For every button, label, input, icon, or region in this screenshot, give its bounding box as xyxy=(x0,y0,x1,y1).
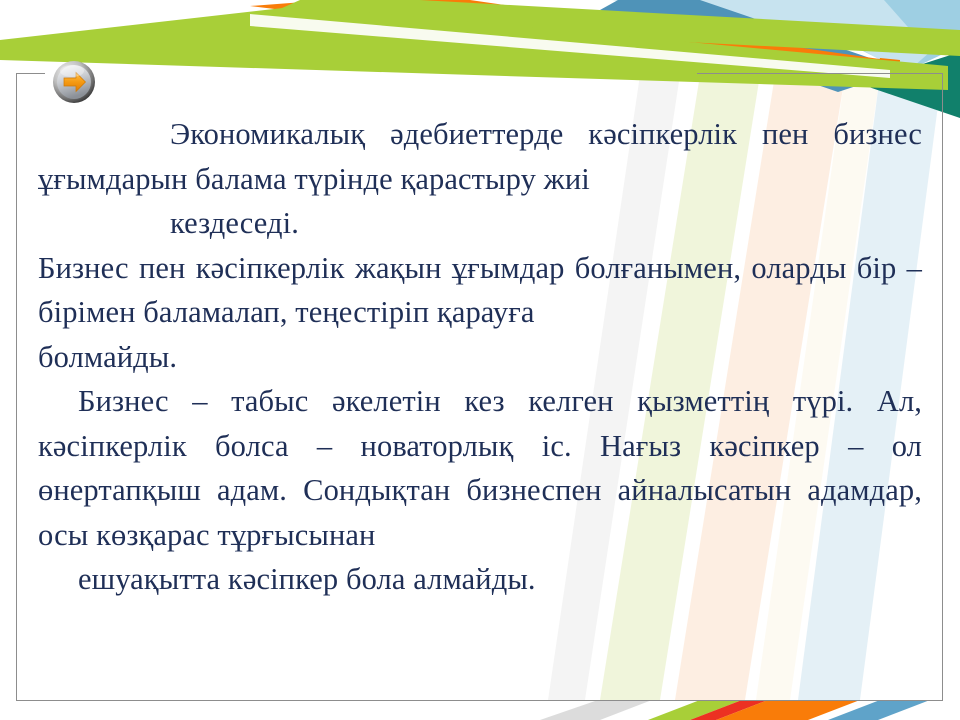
frame-border-left xyxy=(16,73,17,701)
paragraph-3: Бизнес – табыс әкелетін кез келген қызме… xyxy=(38,379,922,602)
ribbon-white-sliver xyxy=(250,14,890,78)
stripe-red-bottom xyxy=(690,700,768,720)
paragraph-2-text: Бизнес пен кәсіпкерлік жақын ұғымдар бол… xyxy=(38,251,922,330)
paragraph-1: Экономикалық әдебиеттерде кәсіпкерлік пе… xyxy=(38,112,922,246)
frame-border-right xyxy=(942,73,943,701)
orange-right-arrow-icon xyxy=(52,60,96,104)
slide: Экономикалық әдебиеттерде кәсіпкерлік пе… xyxy=(0,0,960,720)
stripe-blue-bottom xyxy=(828,700,930,720)
ribbon-orange-tip xyxy=(872,58,900,86)
paragraph-2: Бизнес пен кәсіпкерлік жақын ұғымдар бол… xyxy=(38,246,922,380)
ribbon-steel-blue xyxy=(600,0,905,92)
paragraph-2-last-line: болмайды. xyxy=(38,335,922,380)
ribbon-green-upper xyxy=(255,0,960,56)
paragraph-3-text: Бизнес – табыс әкелетін кез келген қызме… xyxy=(38,384,922,552)
ribbon-light-blue-fan xyxy=(845,0,960,72)
frame-border-top-left xyxy=(16,73,45,74)
stripe-green-bottom xyxy=(648,700,742,720)
slide-body-text: Экономикалық әдебиеттерде кәсіпкерлік пе… xyxy=(38,112,922,602)
ribbon-pale-blue-fan xyxy=(818,0,930,74)
stripe-gray xyxy=(540,700,652,720)
paragraph-3-last-line: ешуақытта кәсіпкер бола алмайды. xyxy=(38,557,922,602)
ribbon-pale-blue-upper xyxy=(612,0,960,40)
frame-border-top-right xyxy=(697,73,943,74)
ribbon-orange xyxy=(250,0,900,84)
stripe-orange-bottom xyxy=(716,700,860,720)
paragraph-1-text: Экономикалық әдебиеттерде кәсіпкерлік пе… xyxy=(38,117,922,196)
ribbon-teal xyxy=(860,52,960,118)
ribbon-green-lower xyxy=(0,6,948,90)
paragraph-1-last-line: кездеседі. xyxy=(38,201,922,246)
frame-border-bottom xyxy=(16,700,943,701)
